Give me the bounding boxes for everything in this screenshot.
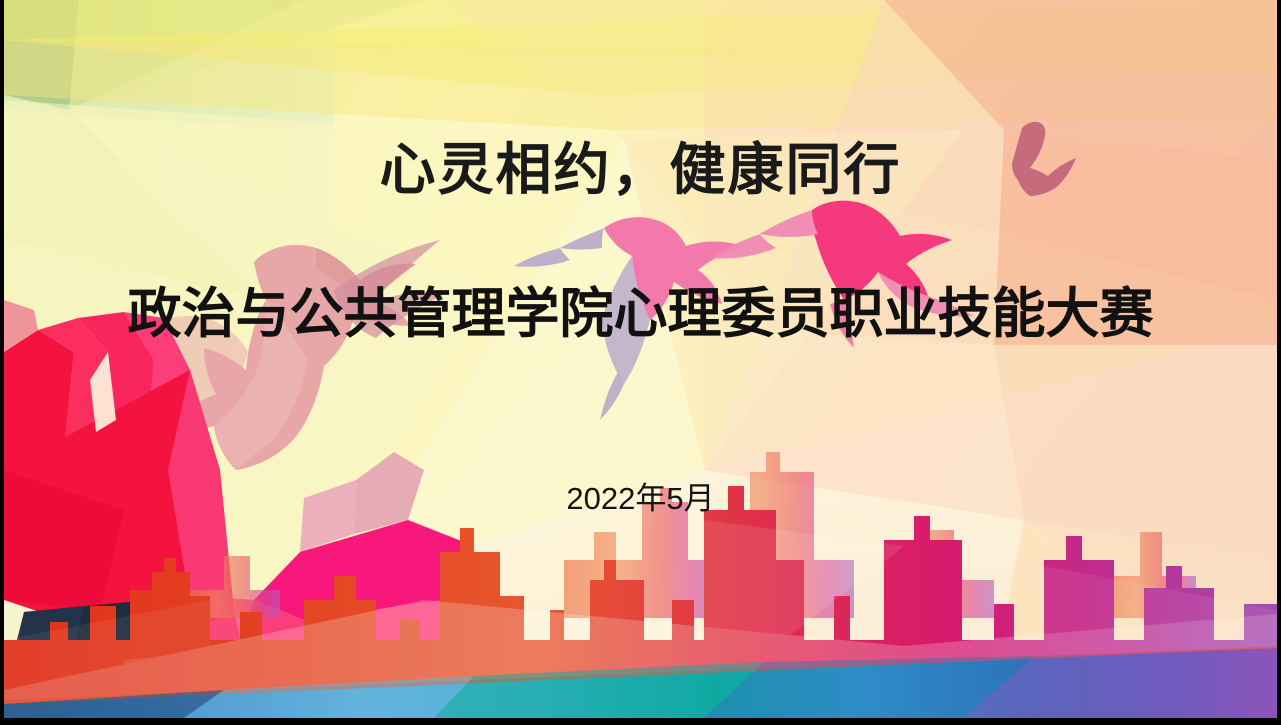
slide-canvas: 心灵相约，健康同行 政治与公共管理学院心理委员职业技能大赛 2022年5月 bbox=[4, 0, 1277, 718]
slide-root: 心灵相约，健康同行 政治与公共管理学院心理委员职业技能大赛 2022年5月 bbox=[0, 0, 1281, 725]
city-skyline-and-ground bbox=[4, 0, 1277, 718]
